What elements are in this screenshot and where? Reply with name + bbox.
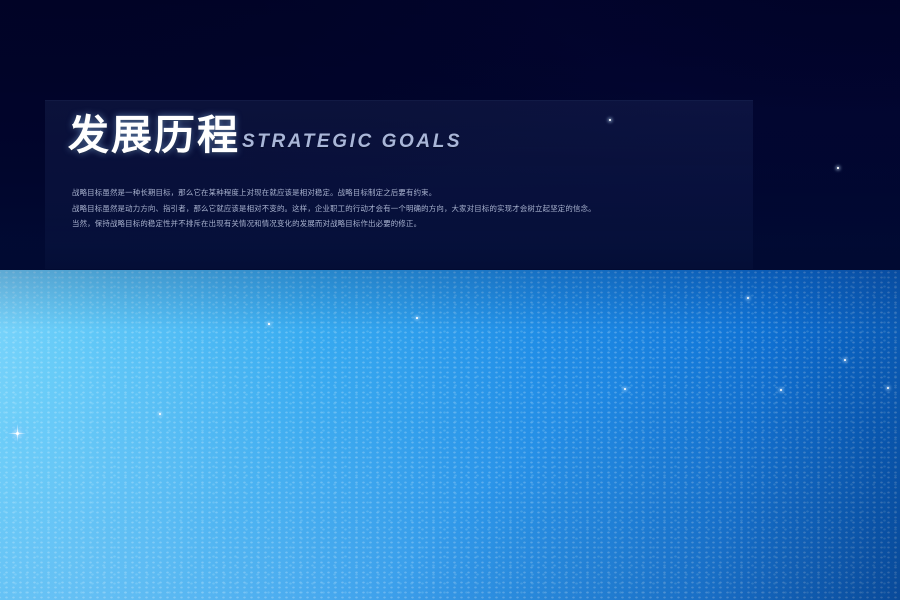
earth-surface-texture [0,270,900,600]
page-title: 发展历程 [68,115,240,156]
star-bright-left [16,432,19,435]
panel-body-text: 战略目标虽然是一种长期目标，那么它在某种程度上对现在就应该是相对稳定。战略目标制… [72,185,732,232]
space-banner-scene: 发展历程 STRATEGIC GOALS 战略目标虽然是一种长期目标，那么它在某… [0,0,900,600]
star-small-e [780,389,782,391]
star-small-d [624,388,626,390]
earth-atmosphere-rim [0,270,900,600]
star-small-g [268,323,270,325]
page-subtitle: STRATEGIC GOALS [242,131,462,156]
star-small-b [747,297,749,299]
earth-atmosphere-glow [0,270,900,600]
star-small-h [416,317,418,319]
earth-terminator-shadow [0,270,900,600]
star-bright-left-spike-horizontal [8,433,26,434]
earth-globe [0,270,900,600]
body-line-1: 战略目标虽然是一种长期目标，那么它在某种程度上对现在就应该是相对稳定。战略目标制… [72,185,732,201]
star-small-j [837,167,838,168]
body-line-3: 当然，保持战略目标的稳定性并不排斥在出现有关情况和情况变化的发展而对战略目标作出… [72,216,732,232]
earth-cloud-layer [0,270,900,600]
star-small-a [159,413,161,415]
earth-sphere [0,270,900,600]
body-line-2: 战略目标虽然是动力方向、指引者，那么它就应该是相对不变的。这样，企业职工的行动才… [72,201,732,217]
strategic-goals-panel: 发展历程 STRATEGIC GOALS 战略目标虽然是一种长期目标，那么它在某… [45,100,753,269]
panel-heading-row: 发展历程 STRATEGIC GOALS [68,115,462,156]
star-bright-left-spike-vertical [17,424,18,442]
star-small-c [844,359,846,361]
star-small-f [887,387,889,389]
